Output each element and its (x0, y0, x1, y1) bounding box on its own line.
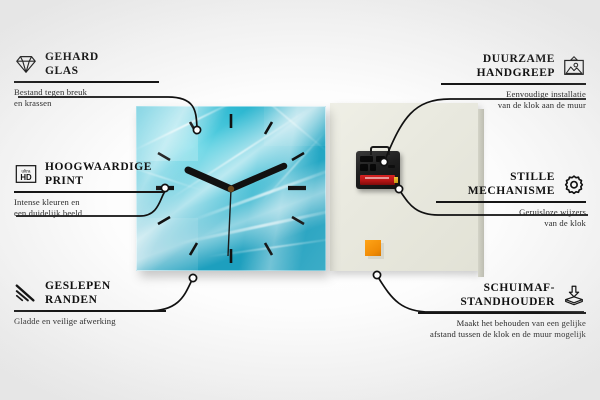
feature-title: GEHARD GLAS (45, 50, 99, 78)
connector-dot-stille-mechanisme (395, 185, 402, 192)
press-down-pad-icon (562, 284, 586, 306)
feature-title: HOOGWAARDIGE PRINT (45, 160, 152, 188)
feature-divider (441, 83, 586, 85)
gear-icon (562, 173, 586, 195)
feature-divider (14, 191, 164, 193)
feature-title: GESLEPEN RANDEN (45, 279, 111, 307)
feature-divider (14, 310, 166, 312)
infographic-canvas: GEHARD GLAS Bestand tegen breuk en krass… (0, 0, 600, 400)
picture-frame-icon (562, 55, 586, 77)
beveled-edges-icon (14, 282, 38, 304)
feature-description: Maakt het behouden van een gelijke afsta… (418, 318, 586, 341)
feature-gehard-glas[interactable]: GEHARD GLAS Bestand tegen breuk en krass… (14, 50, 159, 110)
ultra-hd-icon: ultra HD (14, 163, 38, 185)
feature-divider (418, 312, 586, 314)
svg-text:HD: HD (20, 173, 32, 182)
feature-description: Eenvoudige installatie van de klok aan d… (441, 89, 586, 112)
feature-title: SCHUIMAF- STANDHOUDER (460, 281, 555, 309)
connector-dot-gehard-glas (193, 126, 200, 133)
feature-hoogwaardige-print[interactable]: ultra HD HOOGWAARDIGE PRINT Intense kleu… (14, 160, 164, 220)
feature-title: DUURZAME HANDGREEP (477, 52, 555, 80)
connector-dot-geslepen-randen (189, 274, 196, 281)
feature-description: Gladde en veilige afwerking (14, 316, 166, 328)
feature-divider (14, 81, 159, 83)
feature-divider (436, 201, 586, 203)
feature-description: Geruisloze wijzers van de klok (436, 207, 586, 230)
feature-title: STILLE MECHANISME (468, 170, 555, 198)
feature-schuimafstandhouder[interactable]: SCHUIMAF- STANDHOUDER Maakt het behouden… (418, 281, 586, 341)
diamond-icon (14, 53, 38, 75)
connector-dot-schuimafstandhouder (373, 271, 380, 278)
feature-stille-mechanisme[interactable]: STILLE MECHANISME Geruisloze wijzers van… (436, 170, 586, 230)
feature-description: Bestand tegen breuk en krassen (14, 87, 159, 110)
connector-dot-duurzame-handgreep (380, 158, 387, 165)
feature-duurzame-handgreep[interactable]: DUURZAME HANDGREEP Eenvoudige installati… (441, 52, 586, 112)
feature-geslepen-randen[interactable]: GESLEPEN RANDEN Gladde en veilige afwerk… (14, 279, 166, 327)
feature-description: Intense kleuren en een duidelijk beeld (14, 197, 164, 220)
